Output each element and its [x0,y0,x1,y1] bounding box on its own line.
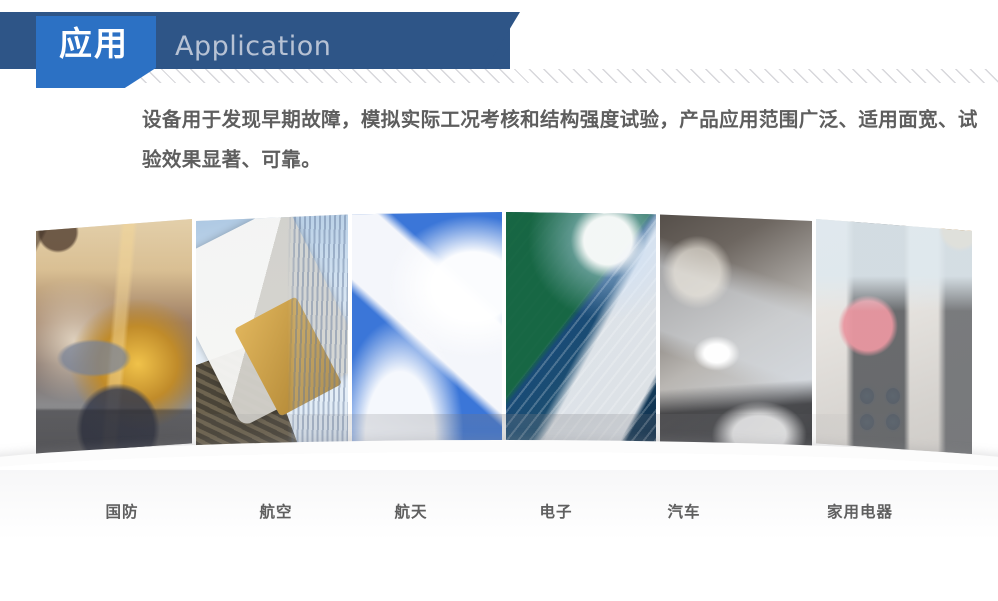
gallery-panel-defense[interactable] [36,218,192,454]
gallery-panel-appliance[interactable] [816,218,972,454]
application-section: 应用 Application 设备用于发现早期故障，模拟实际工况考核和结构强度试… [0,0,998,601]
caption-defense: 国防 [105,500,138,522]
section-english-title: Application [175,31,331,62]
caption-appliance: 家用电器 [827,500,893,522]
caption-aerospace: 航天 [394,500,427,522]
electronics-image [506,212,656,444]
blender-button-icon [886,414,900,430]
gallery-panel-aerospace[interactable] [352,212,502,444]
blender-button-icon [860,414,874,430]
automotive-image [660,214,812,448]
aerospace-image [352,212,502,444]
appliance-image [816,218,972,454]
section-tag-label: 应用 [36,16,156,88]
satellite-body [196,214,348,427]
aviation-image [196,214,348,448]
gallery-panel-automotive[interactable] [660,214,812,448]
blender-button-icon [886,388,900,404]
gallery-panel-aviation[interactable] [196,214,348,448]
section-header: 应用 Application [0,0,998,100]
gallery-panel-electronics[interactable] [506,212,656,444]
caption-aviation: 航空 [259,500,292,522]
defense-image [36,218,192,454]
caption-electronics: 电子 [539,500,572,522]
header-stripe-left-mask [0,69,40,83]
section-description: 设备用于发现早期故障，模拟实际工况考核和结构强度试验，产品应用范围广泛、适用面宽… [142,100,980,180]
satellite-solar-panel [196,342,300,448]
blender-button-icon [860,388,874,404]
satellite-gold-foil [233,296,341,416]
caption-automotive: 汽车 [667,500,700,522]
gallery-captions: 国防 航空 航天 电子 汽车 家用电器 [0,500,998,534]
